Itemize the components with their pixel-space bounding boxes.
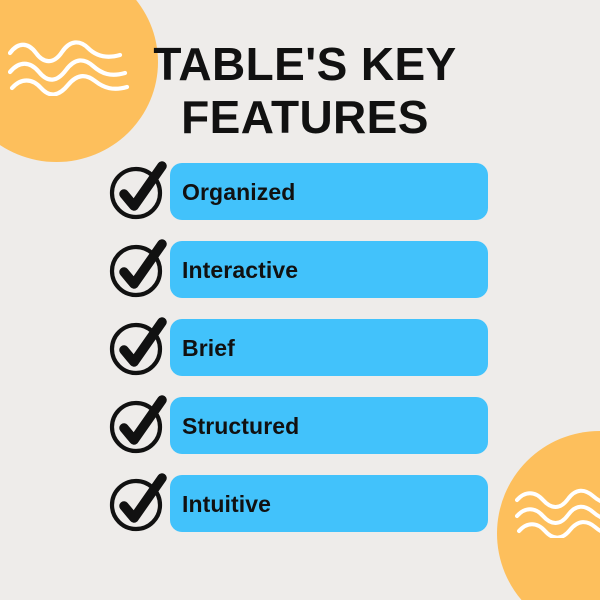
feature-pill[interactable]: Structured — [170, 397, 488, 454]
list-item[interactable]: Intuitive — [0, 475, 600, 532]
check-circle-icon — [107, 160, 169, 222]
feature-pill[interactable]: Organized — [170, 163, 488, 220]
feature-label: Brief — [170, 335, 235, 361]
feature-label: Intuitive — [170, 491, 271, 517]
list-item[interactable]: Interactive — [0, 241, 600, 298]
feature-label: Structured — [170, 413, 299, 439]
check-circle-icon — [107, 238, 169, 300]
feature-label: Organized — [170, 179, 295, 205]
list-item[interactable]: Brief — [0, 319, 600, 376]
check-circle-icon — [107, 316, 169, 378]
decorative-circle-top-left — [0, 0, 158, 162]
feature-label: Interactive — [170, 257, 298, 283]
page-title-line-1: TABLE'S KEY — [150, 38, 460, 91]
check-circle-icon — [107, 472, 169, 534]
feature-list: Organized Interactive Brief — [0, 163, 600, 532]
feature-pill[interactable]: Brief — [170, 319, 488, 376]
list-item[interactable]: Structured — [0, 397, 600, 454]
check-circle-icon — [107, 394, 169, 456]
page-title-line-2: FEATURES — [150, 91, 460, 144]
feature-pill[interactable]: Intuitive — [170, 475, 488, 532]
feature-pill[interactable]: Interactive — [170, 241, 488, 298]
poster-canvas: TABLE'S KEY FEATURES Organized Interacti… — [0, 0, 600, 600]
page-title: TABLE'S KEY FEATURES — [150, 38, 460, 144]
list-item[interactable]: Organized — [0, 163, 600, 220]
